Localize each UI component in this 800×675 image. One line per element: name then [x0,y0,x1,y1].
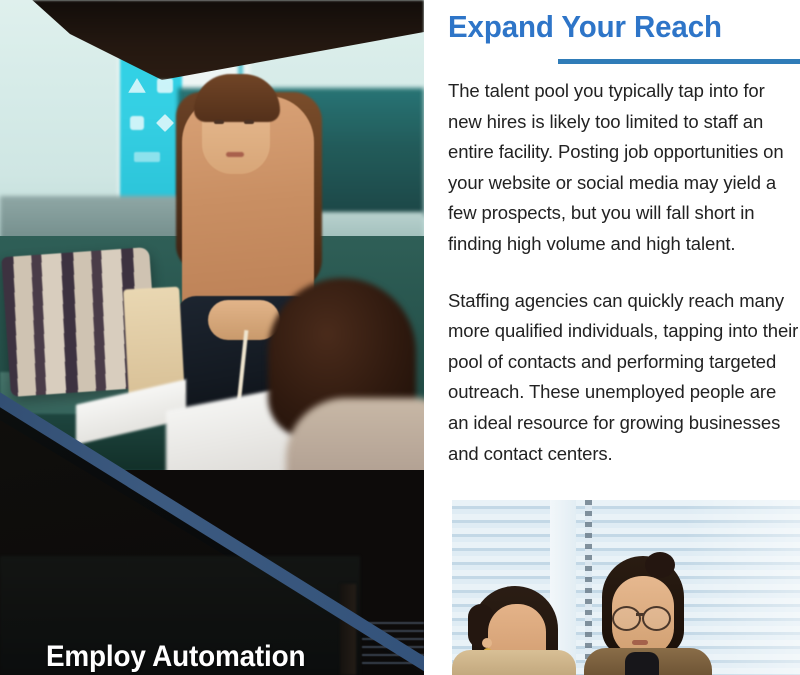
eyeglasses-lens-left [612,606,641,631]
kiosk-rounded-icon [157,78,173,93]
paragraph-1: The talent pool you typically tap into f… [448,76,800,260]
woman-left-jacket [452,650,576,675]
seated-woman-eye-right [244,120,254,124]
blinds-highlight [684,500,800,675]
paragraph-2: Staffing agencies can quickly reach many… [448,286,800,470]
blinds-cord [585,500,592,675]
right-column: Expand Your Reach The talent pool you ty… [424,0,800,675]
office-photo [452,500,800,675]
woman-right-bun [645,552,675,578]
employ-automation-heading: Employ Automation [46,640,305,674]
left-column: Employ Automation [0,0,424,675]
eyeglasses-lens-right [642,606,671,631]
eyeglasses-bridge [636,613,644,616]
kiosk-bar-icon [134,152,160,162]
seated-woman-eye-left [214,120,224,124]
woman-right-shirt [625,652,659,675]
woman-left-ear [482,638,492,648]
heading-divider-rule [558,59,800,64]
woman-right-mouth [632,640,648,645]
kiosk-box-icon [130,116,144,130]
lobby-photo [0,0,424,470]
seated-woman-mouth [226,152,244,157]
body-copy: The talent pool you typically tap into f… [448,76,800,469]
page-title: Expand Your Reach [448,9,722,45]
article-page: Employ Automation Expand Your Reach The … [0,0,800,675]
